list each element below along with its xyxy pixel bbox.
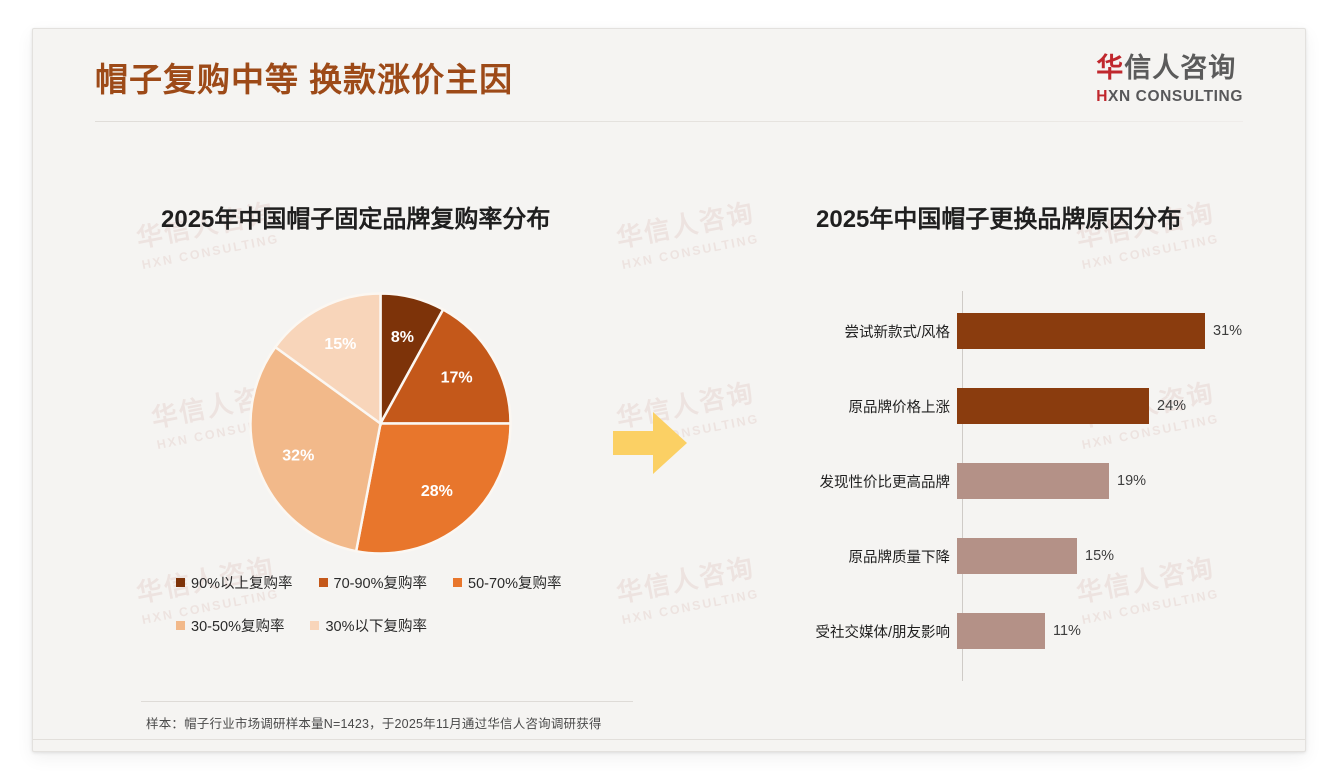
watermark-cn-text: 华信人咨询 (613, 192, 758, 255)
watermark: 华信人咨询 HXN CONSULTING (613, 192, 761, 272)
sample-footnote: 样本：帽子行业市场调研样本量N=1423，于2025年11月通过华信人咨询调研获… (146, 713, 602, 732)
legend-label: 70-90%复购率 (334, 572, 427, 593)
watermark-en-text: HXN CONSULTING (141, 232, 281, 272)
page-title: 帽子复购中等 换款涨价主因 (95, 53, 513, 101)
legend-swatch-icon (176, 621, 185, 630)
right-chart-title: 2025年中国帽子更换品牌原因分布 (816, 199, 1181, 234)
logo-cn-red-char: 华 (1096, 53, 1124, 83)
legend-swatch-icon (319, 578, 328, 587)
legend-item-2[interactable]: 50-70%复购率 (453, 572, 561, 593)
bar-value-label: 19% (1117, 473, 1146, 489)
watermark-en-text: HXN CONSULTING (1081, 232, 1221, 272)
bar-category-label: 尝试新款式/风格 (778, 321, 956, 342)
repurchase-rate-pie-chart: 8%17%28%32%15% (248, 291, 513, 556)
bar-fill (957, 613, 1045, 649)
bar-value-label: 31% (1213, 323, 1242, 339)
header-divider (95, 121, 1243, 122)
slide-canvas: 华信人咨询 HXN CONSULTING 华信人咨询 HXN CONSULTIN… (32, 28, 1306, 752)
bar-category-label: 发现性价比更高品牌 (778, 471, 956, 492)
legend-item-3[interactable]: 30-50%复购率 (176, 615, 284, 636)
legend-item-1[interactable]: 70-90%复购率 (319, 572, 427, 593)
bar-value-label: 15% (1085, 548, 1114, 564)
legend-row-2: 30-50%复购率 30%以下复购率 (176, 615, 606, 636)
watermark: 华信人咨询 HXN CONSULTING (613, 547, 761, 627)
logo-english-name: HXN CONSULTING (1096, 89, 1243, 105)
bar-category-label: 原品牌质量下降 (778, 546, 956, 567)
logo-en-red-char: H (1096, 88, 1108, 105)
bar-value-label: 11% (1053, 623, 1081, 639)
pie-slice-label: 15% (324, 336, 356, 353)
bar-track: 11% (957, 613, 1258, 649)
bar-track: 24% (957, 388, 1258, 424)
pie-legend: 90%以上复购率 70-90%复购率 50-70%复购率 30-50%复购率 3… (176, 572, 606, 658)
bar-row[interactable]: 受社交媒体/朋友影响 11% (778, 613, 1258, 649)
bar-value-label: 24% (1157, 398, 1186, 414)
footnote-divider (141, 701, 633, 702)
logo-chinese-name: 华信人咨询 (1096, 55, 1243, 82)
legend-item-0[interactable]: 90%以上复购率 (176, 572, 293, 593)
switch-reason-bar-chart: 尝试新款式/风格 31% 原品牌价格上涨 24% 发现性价比更高品牌 19% 原… (778, 291, 1258, 681)
legend-label: 50-70%复购率 (468, 572, 561, 593)
legend-row-1: 90%以上复购率 70-90%复购率 50-70%复购率 (176, 572, 606, 593)
legend-item-4[interactable]: 30%以下复购率 (310, 615, 427, 636)
bar-track: 19% (957, 463, 1258, 499)
bar-fill (957, 388, 1149, 424)
logo-en-rest: XN CONSULTING (1108, 88, 1243, 105)
logo-cn-rest: 信人咨询 (1124, 53, 1236, 83)
legend-label: 90%以上复购率 (191, 572, 293, 593)
brand-logo: 华信人咨询 HXN CONSULTING (1096, 55, 1243, 105)
pie-slice-label: 28% (421, 483, 453, 500)
bar-category-label: 受社交媒体/朋友影响 (778, 621, 956, 642)
right-arrow-icon (611, 407, 689, 479)
bar-fill (957, 538, 1077, 574)
pie-svg: 8%17%28%32%15% (248, 291, 513, 556)
watermark-cn-text: 华信人咨询 (613, 547, 758, 610)
copyright-text: ©2026.1 HXR华信人咨询 (129, 750, 269, 752)
slide-header: 帽子复购中等 换款涨价主因 华信人咨询 HXN CONSULTING (33, 29, 1305, 121)
bar-fill (957, 313, 1205, 349)
watermark-en-text: HXN CONSULTING (621, 587, 761, 627)
legend-label: 30%以下复购率 (325, 615, 427, 636)
legend-swatch-icon (453, 578, 462, 587)
pie-slice-label: 17% (441, 370, 473, 387)
bar-category-label: 原品牌价格上涨 (778, 396, 956, 417)
bar-track: 15% (957, 538, 1258, 574)
legend-swatch-icon (310, 621, 319, 630)
watermark-en-text: HXN CONSULTING (621, 232, 761, 272)
bar-track: 31% (957, 313, 1258, 349)
left-chart-title: 2025年中国帽子固定品牌复购率分布 (161, 199, 550, 234)
bar-row[interactable]: 原品牌价格上涨 24% (778, 388, 1258, 424)
bar-row[interactable]: 发现性价比更高品牌 19% (778, 463, 1258, 499)
website-url[interactable]: www.hxrcon.com (1115, 750, 1209, 752)
bar-row[interactable]: 尝试新款式/风格 31% (778, 313, 1258, 349)
bar-fill (957, 463, 1109, 499)
legend-swatch-icon (176, 578, 185, 587)
pie-slice-label: 32% (282, 447, 314, 464)
pie-slice-label: 8% (391, 329, 414, 346)
footer-divider (33, 739, 1305, 740)
legend-label: 30-50%复购率 (191, 615, 284, 636)
bar-row[interactable]: 原品牌质量下降 15% (778, 538, 1258, 574)
